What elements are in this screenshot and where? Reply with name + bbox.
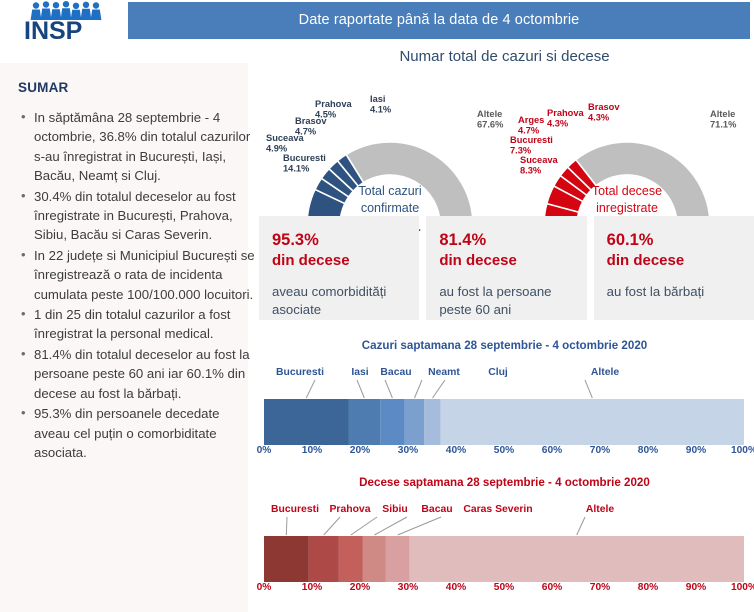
- axis-tick-label: 40%: [446, 582, 466, 593]
- bar-segment: [409, 536, 744, 582]
- bar-segment: [380, 399, 404, 445]
- axis-tick-label: 50%: [494, 582, 514, 593]
- stat-card: 81.4% din decese au fost la persoane pes…: [426, 216, 586, 320]
- stat-card: 95.3% din decese aveau comorbidități aso…: [259, 216, 419, 320]
- axis-tick-label: 60%: [542, 445, 562, 456]
- header: INSP Date raportate până la data de 4 oc…: [0, 0, 754, 42]
- gauge-segment-label: Suceava: [520, 155, 559, 165]
- stat-card-subtitle: din decese: [607, 250, 741, 271]
- gauge-segment-value: 8.3%: [520, 166, 542, 176]
- gauge-segment-label: Altele: [710, 109, 735, 119]
- axis-tick-label: 100%: [731, 445, 754, 456]
- bar-segment-label: Bacau: [421, 504, 452, 515]
- gauge-segment-value: 14.1%: [283, 164, 310, 174]
- deaths-bar-chart: Decese saptamana 28 septembrie - 4 octom…: [255, 476, 754, 601]
- axis-tick-label: 80%: [638, 582, 658, 593]
- axis-tick-label: 10%: [302, 582, 322, 593]
- axis-tick-label: 50%: [494, 445, 514, 456]
- list-item: In 22 județe si Municipiul București se …: [34, 246, 256, 304]
- axis-tick-label: 70%: [590, 445, 610, 456]
- summary-heading: SUMAR: [18, 80, 69, 95]
- gauge-segment-label: Bucuresti: [510, 135, 553, 145]
- gauge-segment-label: Bucuresti: [283, 153, 326, 163]
- stat-card-percent: 81.4%: [439, 230, 573, 250]
- axis-tick-label: 20%: [350, 445, 370, 456]
- callout-leader-line: [432, 380, 445, 398]
- gauge-segment-label: Iasi: [370, 94, 386, 104]
- bar-segment: [339, 536, 363, 582]
- axis-tick-label: 70%: [590, 582, 610, 593]
- list-item: 30.4% din totalul deceselor au fost înre…: [34, 187, 256, 245]
- bar-segment-label: Iasi: [351, 367, 368, 378]
- bar-segment: [348, 399, 380, 445]
- chart-title: Cazuri saptamana 28 septembrie - 4 octom…: [255, 339, 754, 352]
- gauge-segment-value: 7.3%: [510, 146, 532, 156]
- cases-gauge: Total cazuriconfirmate137.491Bucuresti14…: [266, 94, 504, 232]
- bar-segment: [264, 399, 348, 445]
- stat-card-percent: 95.3%: [272, 230, 406, 250]
- gauge-segment-value: 4.3%: [588, 113, 610, 123]
- bar-segment: [405, 399, 425, 445]
- header-title: Date raportate până la data de 4 octombr…: [128, 2, 750, 39]
- bar-segment: [264, 536, 309, 582]
- callout-leader-line: [357, 380, 364, 398]
- summary-sidebar: SUMAR In săptămâna 28 septembrie - 4 oct…: [0, 63, 248, 612]
- stat-card-row: 95.3% din decese aveau comorbidități aso…: [259, 216, 754, 320]
- x-axis-ticks: 0%10%20%30%40%50%60%70%80%90%100%: [264, 445, 744, 459]
- callout-leader-line: [414, 380, 422, 398]
- dashboard-page: INSP Date raportate până la data de 4 oc…: [0, 0, 754, 612]
- stat-card-description: au fost la bărbați: [607, 283, 741, 301]
- stat-card-description: aveau comorbidități asociate: [272, 283, 406, 319]
- cases-bar-chart: Cazuri saptamana 28 septembrie - 4 octom…: [255, 339, 754, 464]
- bar-segment: [424, 399, 440, 445]
- bar-segment-label: Altele: [586, 504, 615, 515]
- gauge-charts: Total cazuriconfirmate137.491Bucuresti14…: [255, 70, 754, 232]
- gauge-segment-value: 67.6%: [477, 120, 504, 130]
- list-item: In săptămâna 28 septembrie - 4 octombrie…: [34, 108, 256, 186]
- gauge-segment-label: Prahova: [547, 108, 585, 118]
- stat-card: 60.1% din decese au fost la bărbați: [594, 216, 754, 320]
- summary-bullet-list: In săptămâna 28 septembrie - 4 octombrie…: [14, 108, 256, 463]
- callout-leader-line: [585, 380, 592, 398]
- callout-leader-line: [398, 517, 441, 535]
- bar-segment: [363, 536, 386, 582]
- gauge-segment-label: Prahova: [315, 99, 353, 109]
- callout-leader-line: [324, 517, 340, 535]
- gauge-segment-value: 4.1%: [370, 105, 392, 115]
- chart-title: Decese saptamana 28 septembrie - 4 octom…: [255, 476, 754, 489]
- stat-card-subtitle: din decese: [439, 250, 573, 271]
- callout-leader-line: [577, 517, 585, 535]
- gauge-section-title: Numar total de cazuri si decese: [255, 48, 754, 65]
- callout-leader-line: [286, 517, 287, 535]
- gauge-center-label-1: Total cazuri: [358, 184, 421, 198]
- gauge-segment-value: 4.3%: [547, 119, 569, 129]
- axis-tick-label: 100%: [731, 582, 754, 593]
- bar-segment-label: Caras Severin: [463, 504, 532, 515]
- bar-segment-label: Cluj: [488, 367, 508, 378]
- gauge-segment-value: 71.1%: [710, 120, 737, 130]
- axis-tick-label: 0%: [257, 445, 272, 456]
- gauge-segment-label: Arges: [518, 115, 544, 125]
- axis-tick-label: 90%: [686, 582, 706, 593]
- insp-logo: INSP: [14, 0, 122, 42]
- axis-tick-label: 10%: [302, 445, 322, 456]
- main-content: Numar total de cazuri si decese Total ca…: [255, 44, 754, 612]
- bar-segment-label: Bucuresti: [276, 367, 324, 378]
- callout-leader-line: [306, 380, 315, 398]
- callout-leader-line: [385, 380, 392, 398]
- gauge-center-label-2: inregistrate: [596, 201, 658, 215]
- list-item: 81.4% din totalul deceselor au fost la p…: [34, 345, 256, 403]
- x-axis-ticks: 0%10%20%30%40%50%60%70%80%90%100%: [264, 582, 744, 596]
- gauge-center-label-2: confirmate: [361, 201, 419, 215]
- axis-tick-label: 40%: [446, 445, 466, 456]
- deaths-gauge: Total deceseinregistrate5.048Suceava8.3%…: [510, 102, 737, 232]
- bar-segment-label: Altele: [591, 367, 620, 378]
- svg-text:INSP: INSP: [24, 17, 82, 42]
- bar-segment-label: Bacau: [380, 367, 411, 378]
- axis-tick-label: 90%: [686, 445, 706, 456]
- axis-tick-label: 60%: [542, 582, 562, 593]
- bar-segment: [386, 536, 410, 582]
- gauge-segment-value: 4.5%: [315, 110, 337, 120]
- axis-tick-label: 20%: [350, 582, 370, 593]
- callout-leader-line: [351, 517, 377, 535]
- axis-tick-label: 80%: [638, 445, 658, 456]
- gauge-segment-value: 4.7%: [295, 127, 317, 137]
- stat-card-percent: 60.1%: [607, 230, 741, 250]
- bar-segment-label: Bucuresti: [271, 504, 319, 515]
- gauge-segment-label: Brasov: [588, 102, 620, 112]
- bar-segment: [309, 536, 339, 582]
- axis-tick-label: 30%: [398, 582, 418, 593]
- stat-card-description: au fost la persoane peste 60 ani: [439, 283, 573, 319]
- callout-leader-line: [374, 517, 407, 535]
- gauge-segment-value: 4.9%: [266, 144, 288, 154]
- bar-segment-label: Neamt: [428, 367, 460, 378]
- list-item: 1 din 25 din totalul cazurilor a fost în…: [34, 305, 256, 344]
- axis-tick-label: 0%: [257, 582, 272, 593]
- bar-segment: [441, 399, 744, 445]
- header-banner: Date raportate până la data de 4 octombr…: [128, 2, 750, 39]
- gauge-segment-value: 4.7%: [518, 126, 540, 136]
- axis-tick-label: 30%: [398, 445, 418, 456]
- gauge-center-label-1: Total decese: [592, 184, 662, 198]
- gauge-segment-label: Altele: [477, 109, 502, 119]
- list-item: 95.3% din persoanele decedate aveau cel …: [34, 404, 256, 462]
- stat-card-subtitle: din decese: [272, 250, 406, 271]
- bar-segment-label: Sibiu: [382, 504, 407, 515]
- bar-segment-label: Prahova: [329, 504, 370, 515]
